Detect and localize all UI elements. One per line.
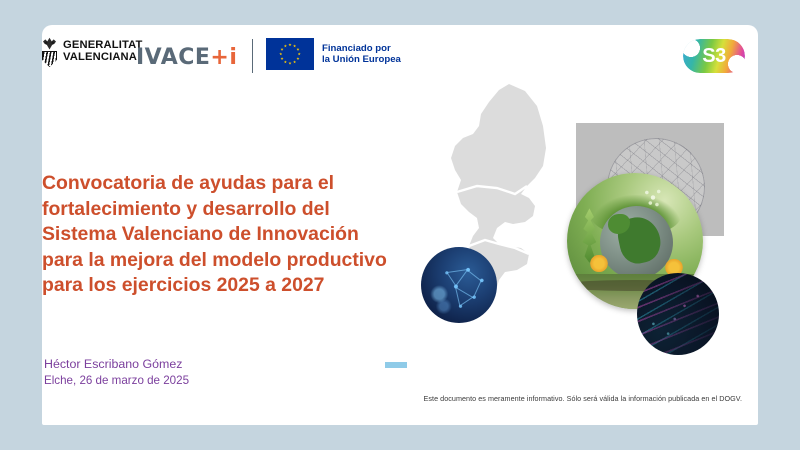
valencian-community-map-icon <box>447 82 571 324</box>
gva-line-2: VALENCIANA <box>63 52 143 64</box>
slide-canvas: GENERALITAT VALENCIANA IVACE+i Financiad… <box>0 0 800 450</box>
technical-sketch-circle-image <box>607 138 705 236</box>
eu-line-1: Financiado por <box>322 43 401 55</box>
title-line-5: para los ejercicios 2025 a 2027 <box>42 273 464 299</box>
title-line-4: para la mejora del modelo productivo <box>42 248 464 274</box>
author-name: Héctor Escribano Gómez <box>44 357 189 373</box>
logo-divider <box>252 39 253 73</box>
generalitat-valenciana-logo-text: GENERALITAT VALENCIANA <box>63 40 143 63</box>
title-line-2: fortalecimiento y desarrollo del <box>42 197 464 223</box>
gray-background-rectangle <box>576 123 724 236</box>
ivace-logo: IVACE+i <box>136 45 237 70</box>
green-globe-nature-circle-image <box>567 173 703 309</box>
s3-logo: S3 <box>683 39 745 73</box>
slide-title: Convocatoria de ayudas para el fortaleci… <box>42 171 464 299</box>
ivace-logo-main: IVACE <box>136 45 210 70</box>
purple-data-wave-circle-image <box>637 273 719 355</box>
s3-logo-label: S3 <box>683 39 745 73</box>
title-line-1: Convocatoria de ayudas para el <box>42 171 464 197</box>
author-block: Héctor Escribano Gómez Elche, 26 de marz… <box>44 357 189 388</box>
blue-accent-dash <box>385 362 407 368</box>
generalitat-valenciana-logo: GENERALITAT VALENCIANA <box>42 37 143 67</box>
ivace-logo-suffix: +i <box>210 45 237 70</box>
logo-bar: GENERALITAT VALENCIANA IVACE+i Financiad… <box>42 25 758 87</box>
title-line-3: Sistema Valenciano de Innovación <box>42 222 464 248</box>
european-union-funding-logo: Financiado por la Unión Europea <box>266 38 401 70</box>
eu-funding-text: Financiado por la Unión Europea <box>322 43 401 66</box>
eu-flag-icon <box>266 38 314 70</box>
disclaimer-text: Este documento es meramente informativo.… <box>42 394 742 403</box>
valencia-coat-of-arms-icon <box>42 37 57 67</box>
presentation-slide: GENERALITAT VALENCIANA IVACE+i Financiad… <box>42 25 758 425</box>
author-place-date: Elche, 26 de marzo de 2025 <box>44 373 189 389</box>
eu-line-2: la Unión Europea <box>322 54 401 66</box>
